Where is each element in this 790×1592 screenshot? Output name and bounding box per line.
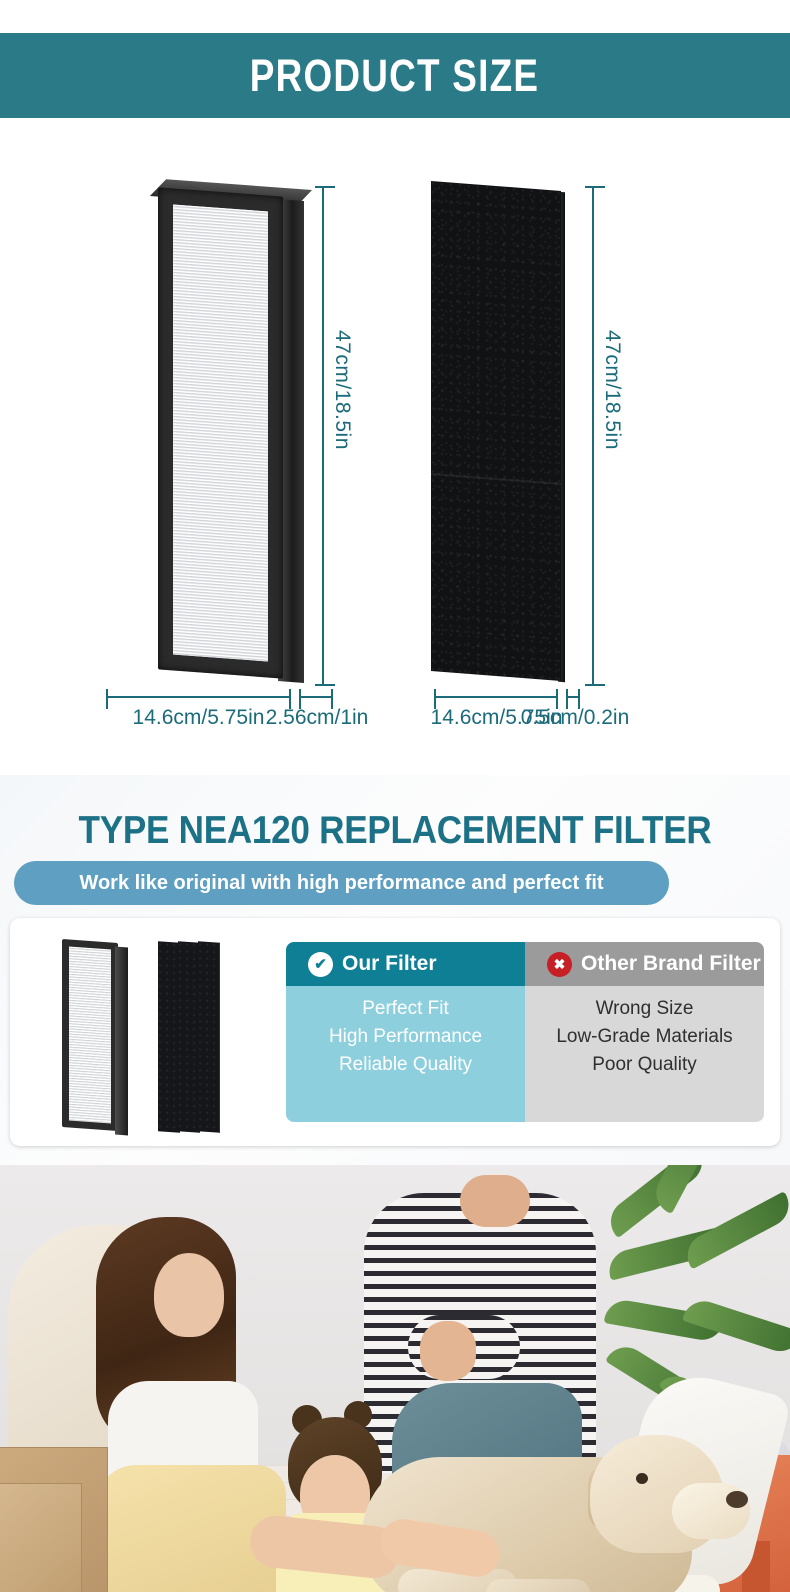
hepa-filter-image [150, 178, 330, 688]
comparison-column-ours: ✔ Our Filter Perfect Fit High Performanc… [286, 942, 525, 1122]
hepa-width-dimension-line [106, 696, 291, 698]
list-item: Reliable Quality [339, 1054, 472, 1076]
hepa-thumb-frame [62, 939, 118, 1131]
comparison-body-other: Wrong Size Low-Grade Materials Poor Qual… [525, 986, 764, 1122]
hepa-filter-frame [158, 187, 283, 678]
product-size-banner: PRODUCT SIZE [0, 33, 790, 118]
carbon-thumb-layer [158, 941, 180, 1133]
hepa-filter-pleats [173, 205, 268, 662]
list-item: Wrong Size [596, 998, 694, 1020]
hepa-depth-dimension-line [299, 696, 333, 698]
hepa-filter-thumbnail [62, 936, 142, 1134]
comparison-column-other: ✖ Other Brand Filter Wrong Size Low-Grad… [525, 942, 764, 1122]
carbon-depth-label: 0.5cm/0.2in [495, 706, 655, 730]
comparison-header-ours-label: Our Filter [342, 952, 437, 976]
carbon-filter-panel [431, 181, 561, 681]
photo-man-hand [420, 1321, 476, 1381]
comparison-header-other: ✖ Other Brand Filter [525, 942, 764, 986]
carbon-width-dimension-line [434, 696, 558, 698]
list-item: High Performance [329, 1026, 482, 1048]
carbon-thumb-layer [198, 941, 220, 1133]
check-icon: ✔ [308, 952, 333, 977]
list-item: Perfect Fit [362, 998, 449, 1020]
carbon-height-dimension-line [592, 186, 594, 686]
section-title: TYPE NEA120 REPLACEMENT FILTER [40, 809, 751, 853]
photo-woman-face [154, 1253, 224, 1337]
plant-leaf [680, 1191, 790, 1269]
photo-man-neck [460, 1175, 530, 1227]
photo-cardboard-box [0, 1483, 82, 1592]
replacement-filter-section: TYPE NEA120 REPLACEMENT FILTER Work like… [0, 775, 790, 1165]
lifestyle-photo [0, 1165, 790, 1592]
photo-dog-paw [486, 1579, 590, 1592]
carbon-depth-dimension-line [566, 696, 580, 698]
comparison-header-ours: ✔ Our Filter [286, 942, 525, 986]
section-subtitle-text: Work like original with high performance… [79, 872, 603, 895]
page-title: PRODUCT SIZE [250, 50, 539, 102]
photo-dog-nose [726, 1491, 748, 1508]
carbon-thumb-layer [178, 941, 200, 1133]
carbon-height-label: 47cm/18.5in [600, 330, 624, 450]
hepa-height-label: 47cm/18.5in [330, 330, 354, 450]
comparison-card: ✔ Our Filter Perfect Fit High Performanc… [10, 918, 780, 1146]
list-item: Poor Quality [592, 1054, 697, 1076]
hepa-height-dimension-line [322, 186, 324, 686]
comparison-header-other-label: Other Brand Filter [581, 952, 761, 976]
hepa-thumb-pleats [69, 947, 111, 1124]
hepa-depth-label: 2.56cm/1in [232, 706, 402, 730]
comparison-body-ours: Perfect Fit High Performance Reliable Qu… [286, 986, 525, 1122]
carbon-filter-thumbnail [158, 936, 248, 1134]
product-size-section: PRODUCT SIZE 47cm/18.5in 14.6cm/5.75in 2… [0, 0, 790, 775]
carbon-filter-image [425, 178, 605, 688]
hepa-thumb-side [115, 947, 128, 1136]
section-subtitle-pill: Work like original with high performance… [14, 861, 669, 905]
cross-icon: ✖ [547, 952, 572, 977]
comparison-table: ✔ Our Filter Perfect Fit High Performanc… [286, 942, 764, 1122]
list-item: Low-Grade Materials [556, 1026, 732, 1048]
photo-dog-eye [636, 1473, 648, 1484]
